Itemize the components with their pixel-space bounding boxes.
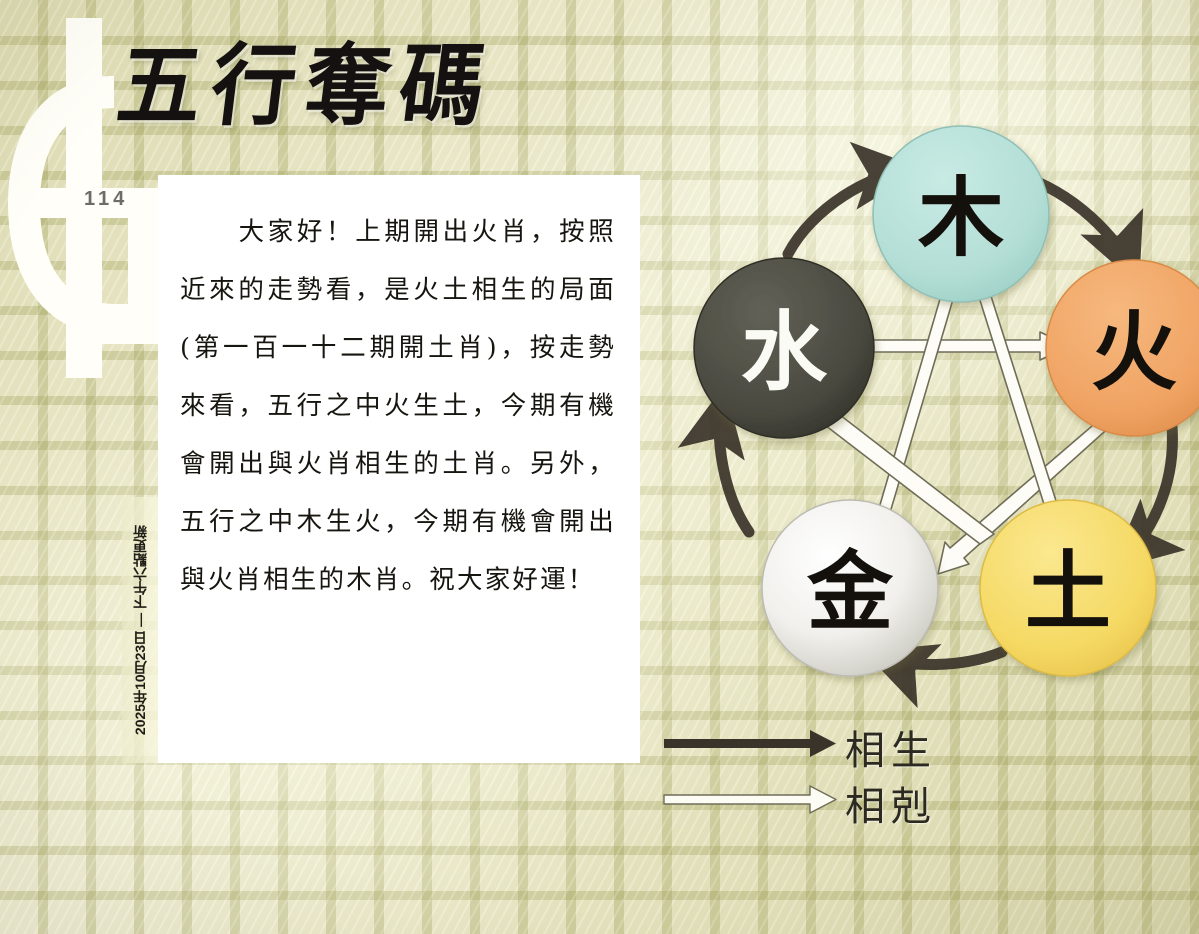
legend-row-overcoming: 相剋	[660, 778, 990, 834]
page-title: 五行奪碼	[113, 41, 500, 130]
element-label-wood: 木	[918, 168, 1004, 269]
five-elements-diagram: 水 木 火 土 金	[636, 96, 1199, 716]
element-node-earth[interactable]: 土	[980, 500, 1156, 676]
element-label-fire: 火	[1091, 302, 1177, 403]
update-stamp: 2025年10月23日 — 下午六點更新	[122, 497, 158, 763]
element-node-fire[interactable]: 火	[1046, 260, 1199, 436]
element-node-water[interactable]: 水	[694, 258, 874, 438]
legend-overcoming-label: 相剋	[845, 774, 937, 832]
issue-number: 114	[84, 188, 128, 211]
legend-overcoming-arrow-icon	[660, 778, 840, 822]
five-elements-svg: 水 木 火 土 金	[636, 96, 1199, 716]
legend-generating-label: 相生	[845, 718, 937, 776]
element-label-metal: 金	[806, 542, 894, 643]
diagram-legend: 相生 相剋	[660, 722, 990, 840]
update-stamp-text: 2025年10月23日 — 下午六點更新	[130, 525, 150, 735]
element-node-wood[interactable]: 木	[873, 126, 1049, 302]
article-panel: 大家好！上期開出火肖，按照近來的走勢看，是火土相生的局面(第一百一十二期開土肖)…	[158, 175, 640, 763]
poster-page: 114 五行奪碼 2025年10月23日 — 下午六點更新 大家好！上期開出火肖…	[0, 0, 1199, 934]
article-body: 大家好！上期開出火肖，按照近來的走勢看，是火土相生的局面(第一百一十二期開土肖)…	[158, 175, 640, 609]
element-node-metal[interactable]: 金	[762, 500, 938, 676]
legend-row-generating: 相生	[660, 722, 990, 778]
element-label-earth: 土	[1025, 542, 1111, 643]
arrow-water-to-fire	[848, 332, 1070, 360]
legend-generating-arrow-icon	[660, 722, 840, 766]
element-label-water: 水	[741, 302, 828, 403]
